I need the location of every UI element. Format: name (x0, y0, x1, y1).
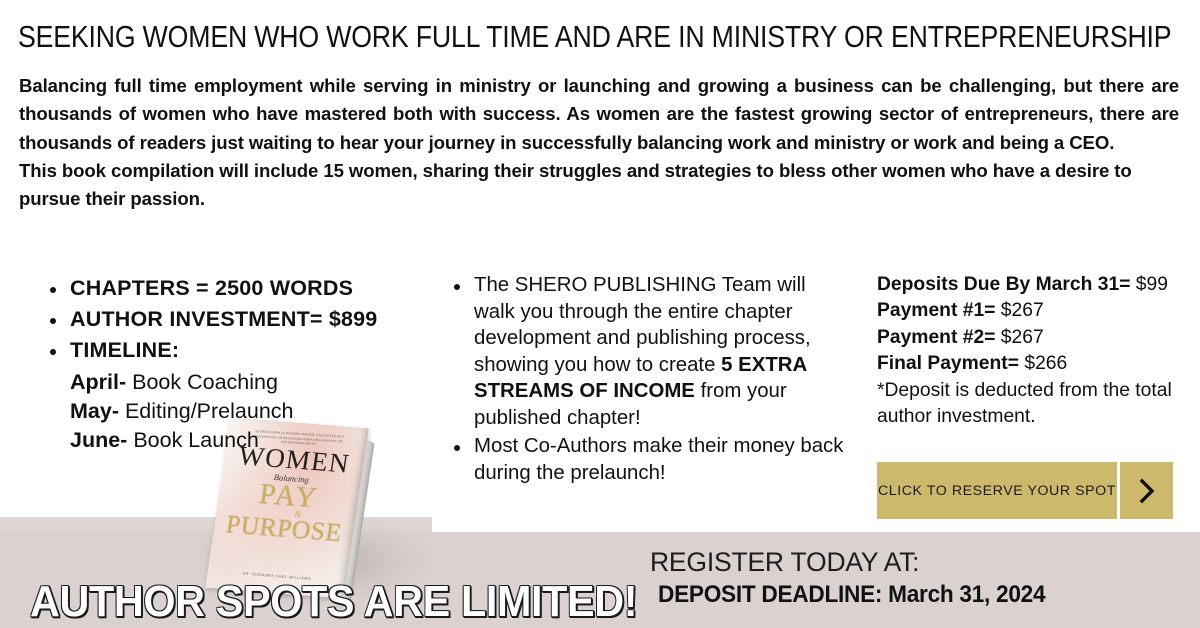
intro-paragraph-2: This book compilation will include 15 wo… (19, 157, 1179, 214)
deadline-row: DEPOSIT DEADLINE: March 31, 2024 (658, 582, 1045, 608)
timeline-month: May- (70, 399, 119, 423)
payment-label: Final Payment= (877, 353, 1019, 374)
book-title-pay: PAY (218, 477, 360, 517)
middle-bullet-list: The SHERO PUBLISHING Team will walk you … (448, 272, 848, 486)
timeline-activity: Book Launch (133, 428, 259, 452)
timeline-month: June- (70, 428, 127, 452)
register-label: REGISTER TODAY AT: (650, 548, 1061, 578)
timeline-row: June- Book Launch (70, 426, 444, 455)
payment-amount: $99 (1130, 274, 1168, 295)
payment-row: Final Payment= $266 (877, 351, 1187, 377)
intro-block: Balancing full time employment while ser… (19, 72, 1179, 213)
left-bullet-list: CHAPTERS = 2500 WORDS AUTHOR INVESTMENT=… (44, 274, 444, 366)
page-title: SEEKING WOMEN WHO WORK FULL TIME AND ARE… (18, 21, 1037, 53)
timeline-month: April- (70, 370, 126, 394)
list-item: The SHERO PUBLISHING Team will walk you … (448, 272, 848, 431)
reserve-spot-label: CLICK TO RESERVE YOUR SPOT (877, 462, 1117, 519)
timeline-activity: Editing/Prelaunch (125, 399, 294, 423)
list-item: TIMELINE: (44, 336, 444, 365)
payment-row: Payment #1= $267 (877, 298, 1187, 324)
timeline-activity: Book Coaching (132, 370, 278, 394)
payment-amount: $267 (995, 300, 1043, 321)
timeline-list: April- Book Coaching May- Editing/Prelau… (44, 368, 444, 456)
banner-headline: AUTHOR SPOTS ARE LIMITED! (30, 577, 637, 627)
left-column: CHAPTERS = 2500 WORDS AUTHOR INVESTMENT=… (44, 274, 444, 455)
payment-amount: $267 (995, 327, 1043, 348)
payment-label: Payment #2= (877, 327, 995, 348)
reserve-spot-button[interactable]: CLICK TO RESERVE YOUR SPOT (877, 462, 1173, 519)
list-item: AUTHOR INVESTMENT= $899 (44, 305, 444, 334)
deadline-label: DEPOSIT DEADLINE: (658, 582, 882, 608)
middle-column: The SHERO PUBLISHING Team will walk you … (448, 272, 848, 488)
payment-row: Payment #2= $267 (877, 325, 1187, 351)
timeline-row: May- Editing/Prelaunch (70, 397, 444, 426)
payment-amount: $266 (1019, 353, 1067, 374)
payment-label: Payment #1= (877, 300, 995, 321)
timeline-row: April- Book Coaching (70, 368, 444, 397)
deposit-note: *Deposit is deducted from the total auth… (877, 378, 1187, 431)
right-column: Deposits Due By March 31= $99 Payment #1… (877, 272, 1187, 431)
deadline-date: March 31, 2024 (882, 582, 1045, 608)
intro-paragraph-1: Balancing full time employment while ser… (19, 72, 1179, 157)
register-block: REGISTER TODAY AT: DEPOSIT DEADLINE: Mar… (650, 548, 1061, 608)
payment-label: Deposits Due By March 31= (877, 274, 1130, 295)
list-item: CHAPTERS = 2500 WORDS (44, 274, 444, 303)
book-title-balancing: Balancing (222, 468, 361, 489)
list-item: Most Co-Authors make their money back du… (448, 433, 848, 486)
payment-row: Deposits Due By March 31= $99 (877, 272, 1187, 298)
flyer-canvas: SEEKING WOMEN WHO WORK FULL TIME AND ARE… (0, 0, 1200, 628)
chevron-right-icon (1120, 462, 1173, 519)
